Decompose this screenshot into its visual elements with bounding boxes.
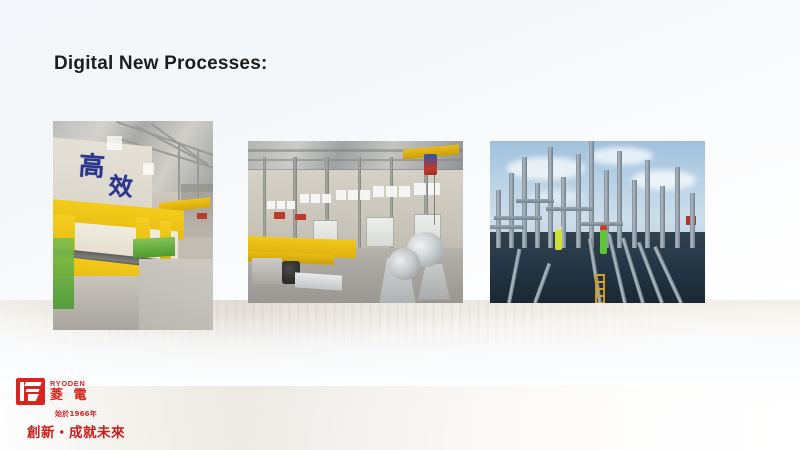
hall-door [366,217,394,247]
hall-window [311,194,320,203]
worker-helmet [555,225,562,230]
window-row [373,186,410,197]
wall-red-sign [295,214,306,220]
hall-window [348,190,358,200]
steel-beam [490,225,524,229]
steel-column [660,186,665,248]
photo-press-brake-content: 高 效 [53,121,213,330]
hall-window [267,201,275,209]
hall-window [277,201,285,209]
steel-column [617,151,622,248]
green-worktable [133,237,175,258]
page-title: Digital New Processes: [54,53,267,75]
steel-beam [516,199,555,203]
green-guard-panel [53,238,74,309]
steel-column [548,147,553,247]
wall-red-sign [274,212,285,218]
steel-beam [494,216,541,220]
cloud [507,157,584,180]
photo-roll-forming-line [248,141,463,303]
ladder [595,274,605,303]
crane-cable [434,173,435,225]
photo-steel-frame-site [490,141,705,303]
steel-column [576,154,581,248]
photo-steel-frame-content [490,141,705,303]
machine-control-box [252,258,282,284]
hall-window [414,183,426,195]
window-row [414,183,440,195]
steel-column [690,193,695,248]
hall-window [386,186,397,197]
photo-press-brake: 高 效 [53,121,213,330]
hall-window [287,201,295,209]
wall-kanji-1: 高 [77,145,106,184]
brand-name-en: RYODEN [50,380,90,388]
workshop-floor-right [139,259,213,330]
ryoden-logo-mark-icon [16,378,45,405]
steel-column [589,141,594,248]
hall-window [399,186,410,197]
wall-kanji-2: 效 [108,166,134,203]
hall-window [373,186,384,197]
window-row [267,201,295,209]
steel-beam [546,207,593,211]
crane-hoist [424,154,437,175]
steel-coil [388,248,420,280]
brand-slogan: 創新・成就未來 [16,421,136,441]
steel-column [675,167,680,248]
brand-since: 始於1966年 [16,409,136,419]
steel-column [645,160,650,247]
worker-helmet [600,225,607,230]
hall-window [322,194,331,203]
window-row [300,194,331,203]
roof-column [178,142,180,201]
logo-row: RYODEN 菱 電 [16,378,136,405]
worker-figure [600,228,607,254]
brand-name-cn: 菱 電 [50,389,90,403]
red-sign [197,213,207,219]
slide-canvas: Digital New Processes: 高 效 [0,0,800,450]
far-wall-shade [181,184,213,238]
steel-column [632,180,637,248]
wall-window [143,163,154,176]
hall-column [358,157,361,261]
steel-column [561,177,566,248]
hall-window [336,190,346,200]
brand-logo: RYODEN 菱 電 始於1966年 創新・成就未來 [16,378,136,441]
window-row [336,190,370,200]
hall-window [360,190,370,200]
worker-figure [555,230,562,250]
steel-column [509,173,514,248]
formed-metal-sheet [295,272,342,290]
hall-window [300,194,309,203]
photo-roll-forming-content [248,141,463,303]
wall-window [107,136,121,151]
logo-text: RYODEN 菱 電 [50,380,90,402]
